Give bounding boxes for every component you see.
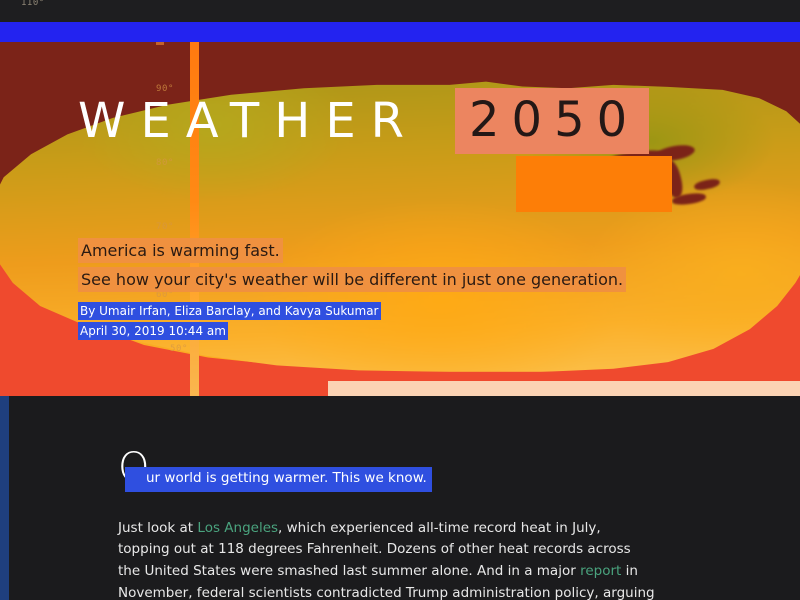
article-page: 90°80°70°60°50° WEATHER 2050 America is … [0,0,800,600]
article-column: O ur world is getting warmer. This we kn… [118,396,658,488]
blue-divider-bar [0,22,800,42]
article-paragraph: Just look at Los Angeles, which experien… [118,518,656,600]
byline-authors[interactable]: By Umair Irfan, Eliza Barclay, and Kavya… [78,302,381,320]
topbar-temperature-label: 110° [21,0,45,8]
dek-line-1: America is warming fast. [78,238,283,263]
byline-block: By Umair Irfan, Eliza Barclay, and Kavya… [78,302,381,342]
page-title: WEATHER [78,97,419,145]
page-title-year: 2050 [455,88,649,154]
hero-banner: 90°80°70°60°50° WEATHER 2050 America is … [0,0,800,396]
byline-timestamp: April 30, 2019 10:44 am [78,322,228,340]
dek-line-2: See how your city's weather will be diff… [78,267,626,292]
hero-dek: America is warming fast. See how your ci… [78,238,626,296]
left-blue-rail [0,396,9,600]
article-body: O ur world is getting warmer. This we kn… [0,396,800,600]
link-report[interactable]: report [580,563,621,579]
hero-title-row: WEATHER 2050 [78,88,649,154]
hero-text-block: WEATHER 2050 America is warming fast. Se… [0,0,800,396]
lede-sentence: ur world is getting warmer. This we know… [125,467,432,492]
lede-wrapper: O ur world is getting warmer. This we kn… [118,396,658,488]
top-dark-bar: 110° [0,0,800,22]
link-los-angeles[interactable]: Los Angeles [197,520,278,536]
paragraph-segment-1: Just look at [118,520,197,536]
